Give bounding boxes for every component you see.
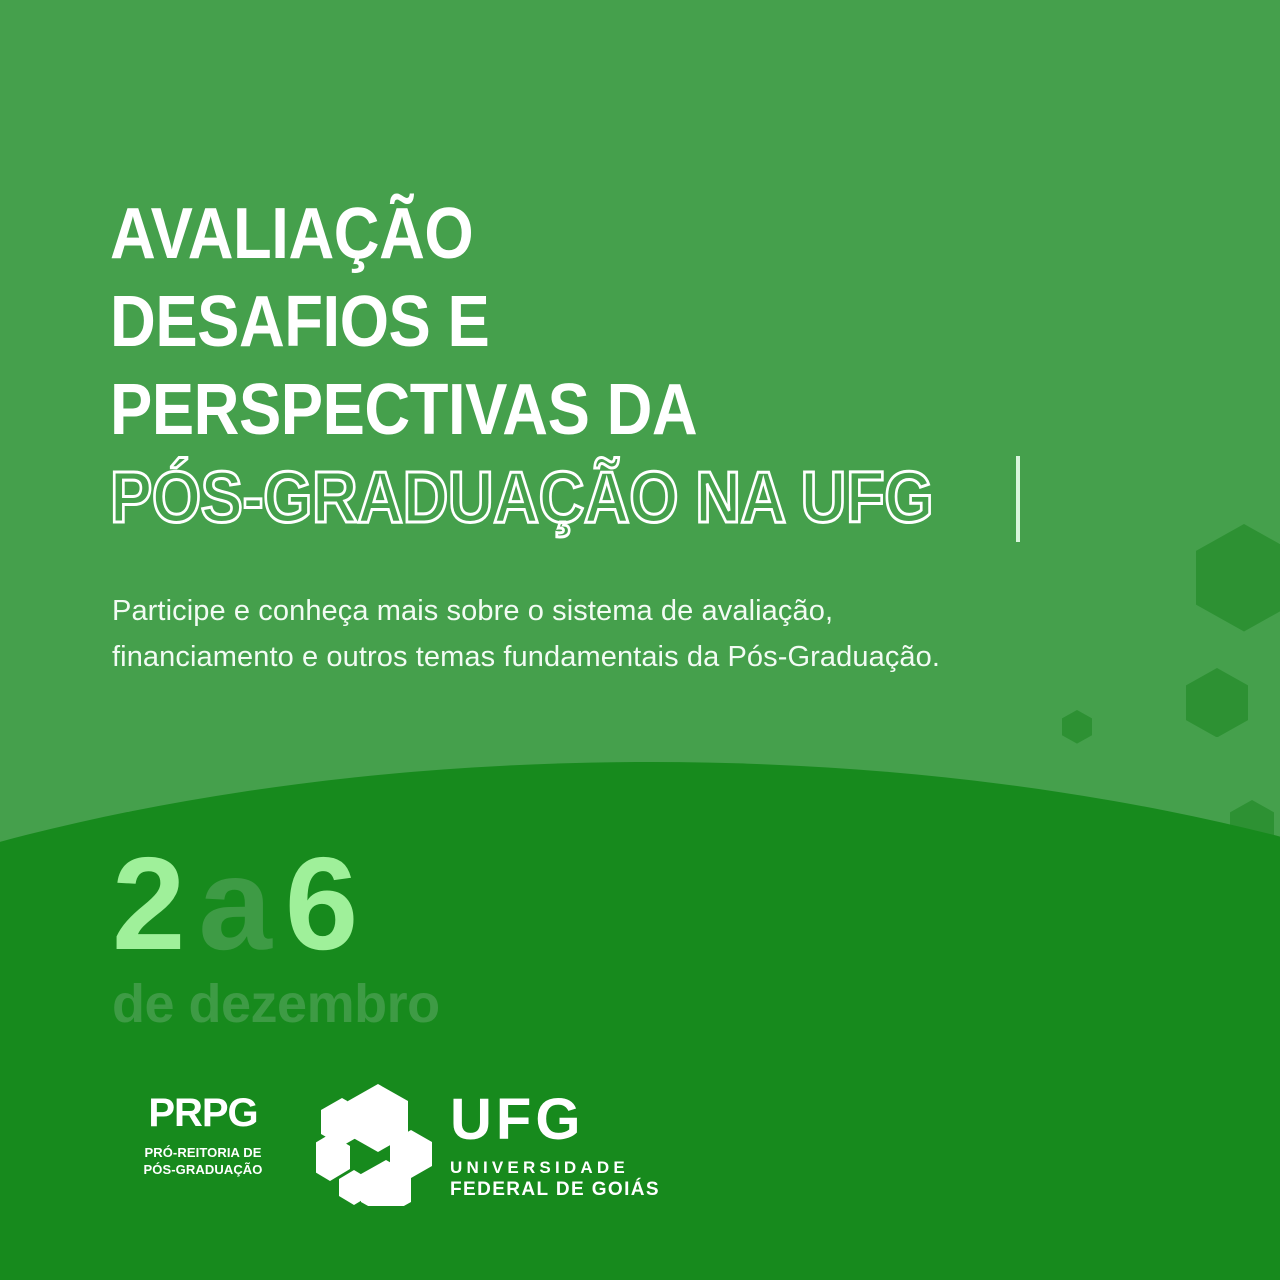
date-separator: a xyxy=(184,830,284,977)
prpg-logo: PRPG PRÓ-REITORIA DE PÓS-GRADUAÇÃO xyxy=(138,1082,268,1178)
date-range: 2a6 xyxy=(112,838,440,970)
hexagon-shape xyxy=(1062,710,1092,744)
subtitle-line-2: financiamento e outros temas fundamentai… xyxy=(112,634,1222,680)
ufg-hexagon-mark-icon xyxy=(316,1082,436,1206)
ufg-wordmark: UFG UNIVERSIDADE FEDERAL DE GOIÁS xyxy=(450,1087,660,1201)
prpg-subtitle: PRÓ-REITORIA DE PÓS-GRADUAÇÃO xyxy=(138,1144,268,1178)
prpg-subtitle-line-1: PRÓ-REITORIA DE xyxy=(138,1144,268,1161)
prpg-subtitle-line-2: PÓS-GRADUAÇÃO xyxy=(138,1161,268,1178)
prpg-acronym: PRPG xyxy=(138,1092,268,1134)
text-cursor-bar xyxy=(1016,456,1020,542)
headline-line-1: AVALIAÇÃO xyxy=(110,190,990,278)
subtitle-block: Participe e conheça mais sobre o sistema… xyxy=(112,588,1222,680)
date-start-day: 2 xyxy=(112,830,184,977)
date-end-day: 6 xyxy=(285,830,357,977)
poster-canvas: AVALIAÇÃO DESAFIOS E PERSPECTIVAS DA PÓS… xyxy=(0,0,1280,1280)
logo-row: PRPG PRÓ-REITORIA DE PÓS-GRADUAÇÃO UFG xyxy=(138,1082,660,1206)
headline-line-4-outlined: PÓS-GRADUAÇÃO NA UFG xyxy=(110,454,990,542)
ufg-subtitle-line-1: UNIVERSIDADE xyxy=(450,1157,660,1178)
ufg-logo: UFG UNIVERSIDADE FEDERAL DE GOIÁS xyxy=(316,1082,660,1206)
subtitle-line-1: Participe e conheça mais sobre o sistema… xyxy=(112,588,1222,634)
headline-line-3: PERSPECTIVAS DA xyxy=(110,366,990,454)
ufg-acronym: UFG xyxy=(450,1091,660,1149)
event-date-block: 2a6 de dezembro xyxy=(112,838,440,1032)
headline-block: AVALIAÇÃO DESAFIOS E PERSPECTIVAS DA PÓS… xyxy=(110,190,1110,542)
headline-line-2: DESAFIOS E xyxy=(110,278,990,366)
date-month-label: de dezembro xyxy=(112,976,440,1032)
ufg-subtitle-line-2: FEDERAL DE GOIÁS xyxy=(450,1178,660,1201)
